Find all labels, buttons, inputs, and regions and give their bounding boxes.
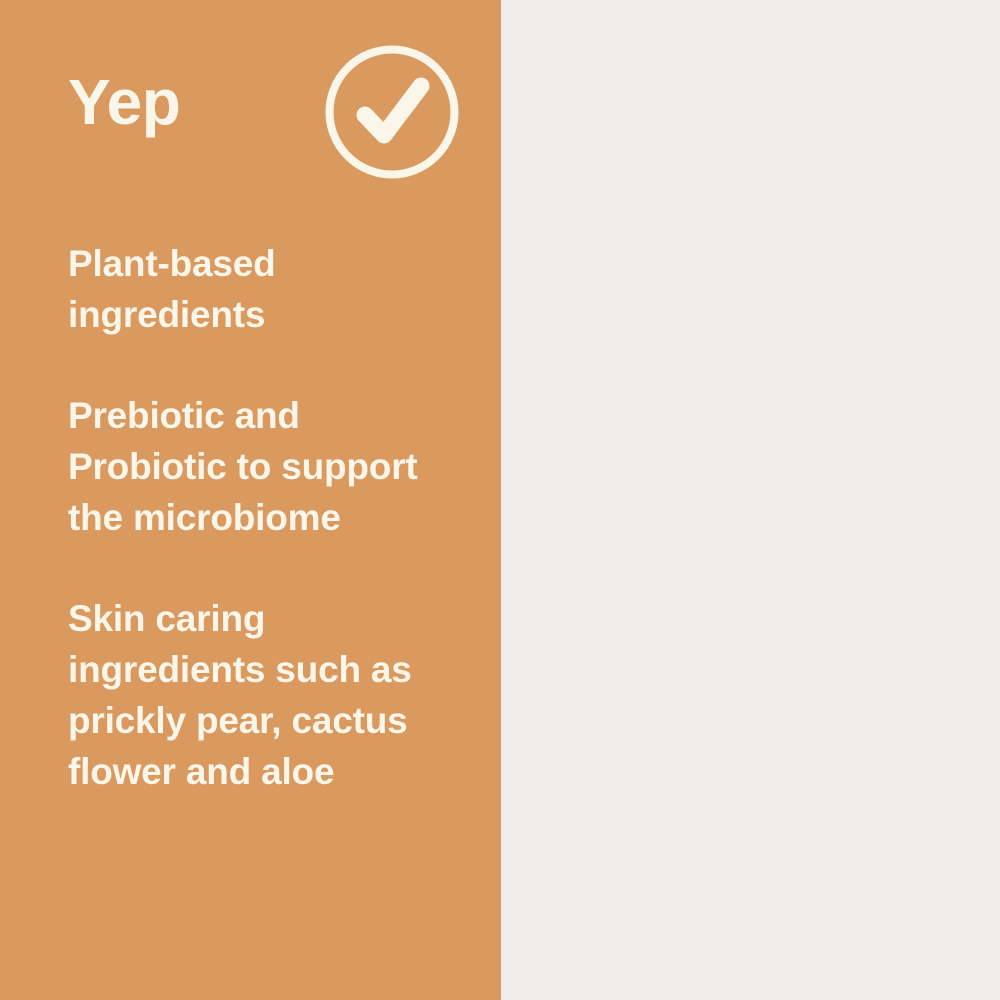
yep-panel-title: Yep (68, 70, 180, 134)
yep-claims-list: Plant-based ingredients Prebiotic and Pr… (68, 238, 468, 797)
comparison-board: Yep Plant-based ingredients Prebiotic an… (0, 0, 1000, 1000)
yep-panel: Yep Plant-based ingredients Prebiotic an… (0, 0, 501, 1000)
nup-panel-header: Nup (501, 0, 1000, 200)
check-circle-icon (325, 45, 459, 179)
list-item: Prebiotic and Probiotic to support the m… (68, 390, 468, 543)
nup-panel: Nup NO Aluminum NO Phthalates, NO Parabe… (501, 0, 1000, 1000)
list-item: Skin caring ingredients such as prickly … (68, 593, 468, 797)
yep-panel-header: Yep (0, 0, 501, 200)
list-item: Plant-based ingredients (68, 238, 468, 340)
